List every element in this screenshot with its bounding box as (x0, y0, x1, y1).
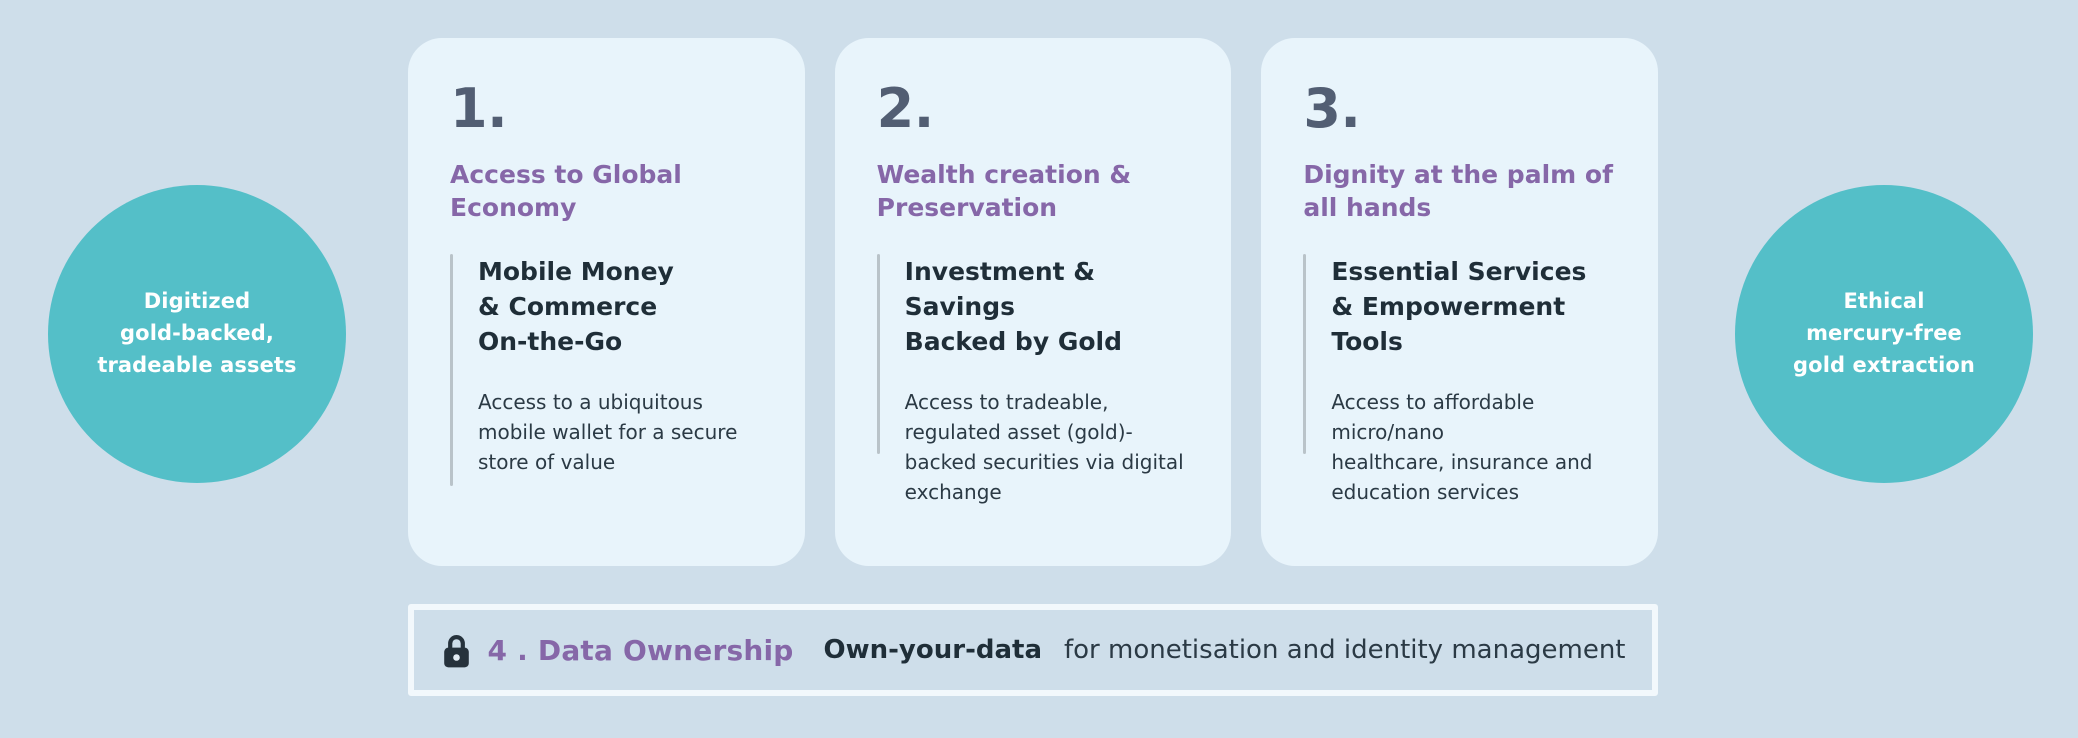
vertical-divider-icon (450, 254, 453, 486)
card-number-3: 3. (1303, 82, 1616, 136)
vertical-divider-icon (1303, 254, 1306, 454)
vertical-divider-icon (877, 254, 880, 454)
pillar-card-3[interactable]: 3. Dignity at the palm of all hands Esse… (1261, 38, 1658, 566)
card-description-2: Access to tradeable, regulated asset (go… (905, 387, 1190, 507)
card-subtitle-2: Investment & Savings Backed by Gold (905, 254, 1190, 359)
card-subtitle-3: Essential Services & Empowerment Tools (1331, 254, 1616, 359)
card-heading-2: Wealth creation & Preservation (877, 158, 1190, 224)
card-body-3: Essential Services & Empowerment Tools A… (1303, 254, 1616, 526)
card-number-1: 1. (450, 82, 763, 136)
pillar-card-list: 1. Access to Global Economy Mobile Money… (408, 38, 1658, 568)
data-ownership-label: 4 . Data Ownership (487, 634, 793, 667)
card-body-text-2: Investment & Savings Backed by Gold Acce… (905, 254, 1190, 526)
data-ownership-content: 4 . Data Ownership Own-your-data for mon… (440, 632, 1625, 669)
pillar-card-2[interactable]: 2. Wealth creation & Preservation Invest… (835, 38, 1232, 566)
pillar-card-1[interactable]: 1. Access to Global Economy Mobile Money… (408, 38, 805, 566)
right-benefit-circle: Ethical mercury-free gold extraction (1735, 185, 2033, 483)
own-your-data-text: Own-your-data (824, 635, 1043, 665)
card-body-1: Mobile Money & Commerce On-the-Go Access… (450, 254, 763, 526)
card-heading-1: Access to Global Economy (450, 158, 763, 224)
card-description-3: Access to affordable micro/nano healthca… (1331, 387, 1616, 507)
right-circle-text: Ethical mercury-free gold extraction (1767, 286, 2001, 382)
data-ownership-bar[interactable]: 4 . Data Ownership Own-your-data for mon… (408, 604, 1658, 696)
lock-icon (440, 632, 473, 669)
card-body-2: Investment & Savings Backed by Gold Acce… (877, 254, 1190, 526)
card-subtitle-1: Mobile Money & Commerce On-the-Go (478, 254, 763, 359)
card-description-1: Access to a ubiquitous mobile wallet for… (478, 387, 763, 477)
card-number-2: 2. (877, 82, 1190, 136)
card-body-text-3: Essential Services & Empowerment Tools A… (1331, 254, 1616, 526)
infographic-canvas: Digitized gold-backed, tradeable assets … (0, 0, 2078, 738)
left-benefit-circle: Digitized gold-backed, tradeable assets (48, 185, 346, 483)
card-body-text-1: Mobile Money & Commerce On-the-Go Access… (478, 254, 763, 526)
card-heading-3: Dignity at the palm of all hands (1303, 158, 1616, 224)
data-ownership-description: for monetisation and identity management (1064, 635, 1626, 665)
left-circle-text: Digitized gold-backed, tradeable assets (71, 286, 322, 382)
